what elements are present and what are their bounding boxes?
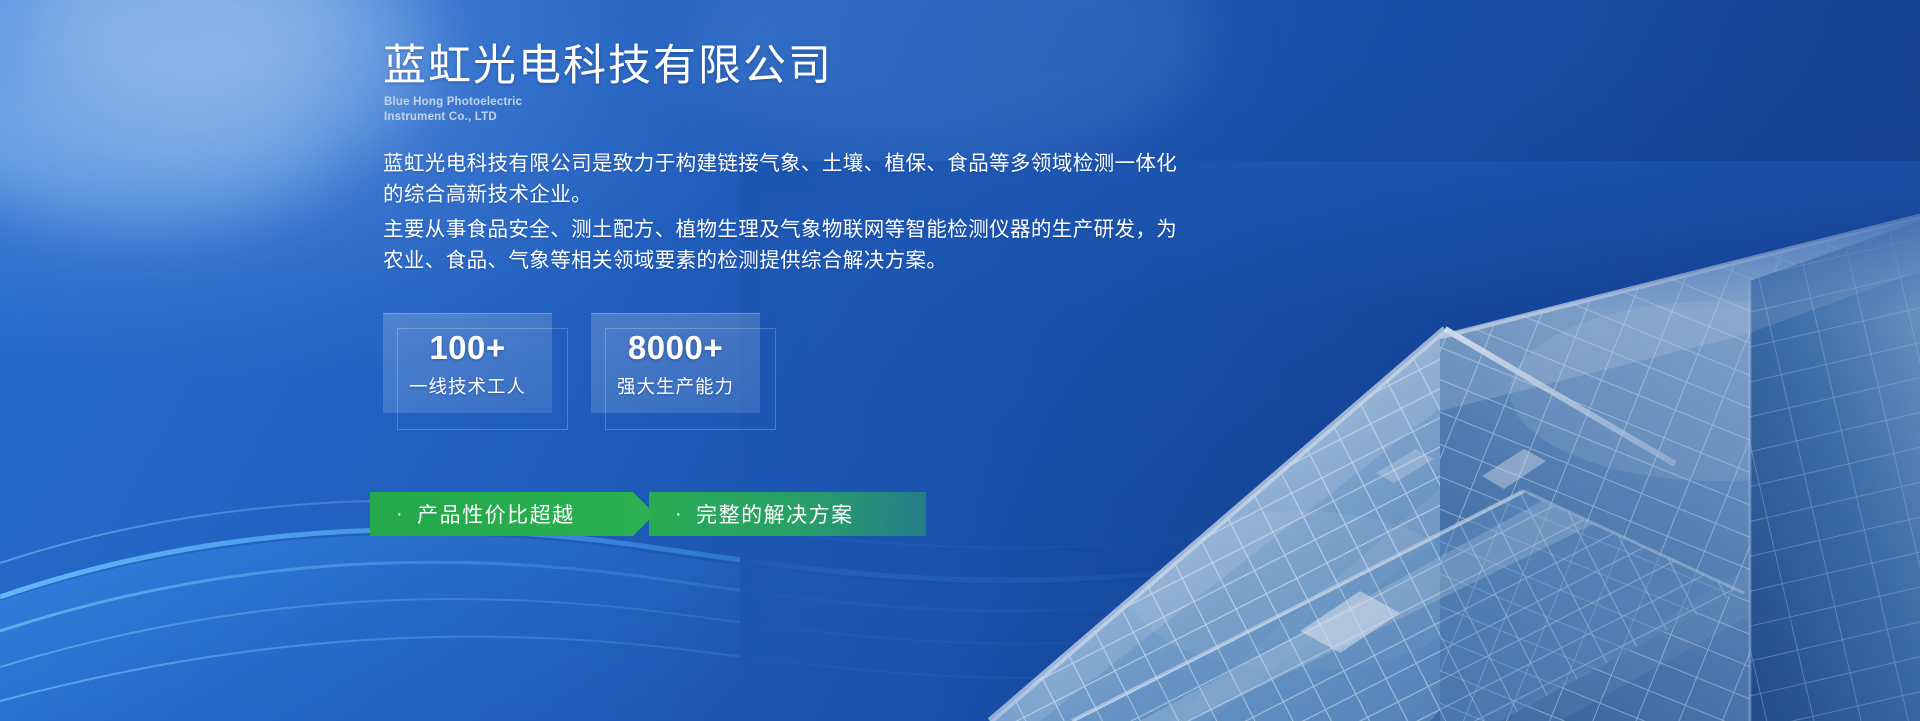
stat-card: 100+ 一线技术工人 <box>383 313 552 413</box>
stat-label: 一线技术工人 <box>409 373 526 399</box>
stat-card-group: 100+ 一线技术工人 8000+ 强大生产能力 <box>383 313 760 413</box>
company-english-line-1: Blue Hong Photoelectric <box>384 95 522 110</box>
bullet-dot-icon: · <box>675 504 683 524</box>
banner-content: 蓝虹光电科技有限公司 Blue Hong Photoelectric Instr… <box>0 0 1920 721</box>
feature-tag: · 完整的解决方案 <box>649 492 926 536</box>
stat-label: 强大生产能力 <box>617 373 734 399</box>
intro-paragraph-2: 主要从事食品安全、测土配方、植物生理及气象物联网等智能检测仪器的生产研发，为农业… <box>383 214 1183 276</box>
stat-value: 8000+ <box>628 329 723 367</box>
company-english-name: Blue Hong Photoelectric Instrument Co., … <box>384 95 522 124</box>
feature-tag-group: · 产品性价比超越 · 完整的解决方案 <box>370 492 926 536</box>
feature-tag: · 产品性价比超越 <box>370 492 633 536</box>
stat-value: 100+ <box>429 329 505 367</box>
company-english-line-2: Instrument Co., LTD <box>384 110 522 125</box>
feature-tag-label: 完整的解决方案 <box>696 499 854 529</box>
page-title: 蓝虹光电科技有限公司 <box>383 42 833 91</box>
intro-paragraph-1: 蓝虹光电科技有限公司是致力于构建链接气象、土壤、植保、食品等多领域检测一体化的综… <box>383 148 1183 210</box>
feature-tag-label: 产品性价比超越 <box>417 499 575 529</box>
stat-card: 8000+ 强大生产能力 <box>591 313 760 413</box>
bullet-dot-icon: · <box>396 504 404 524</box>
